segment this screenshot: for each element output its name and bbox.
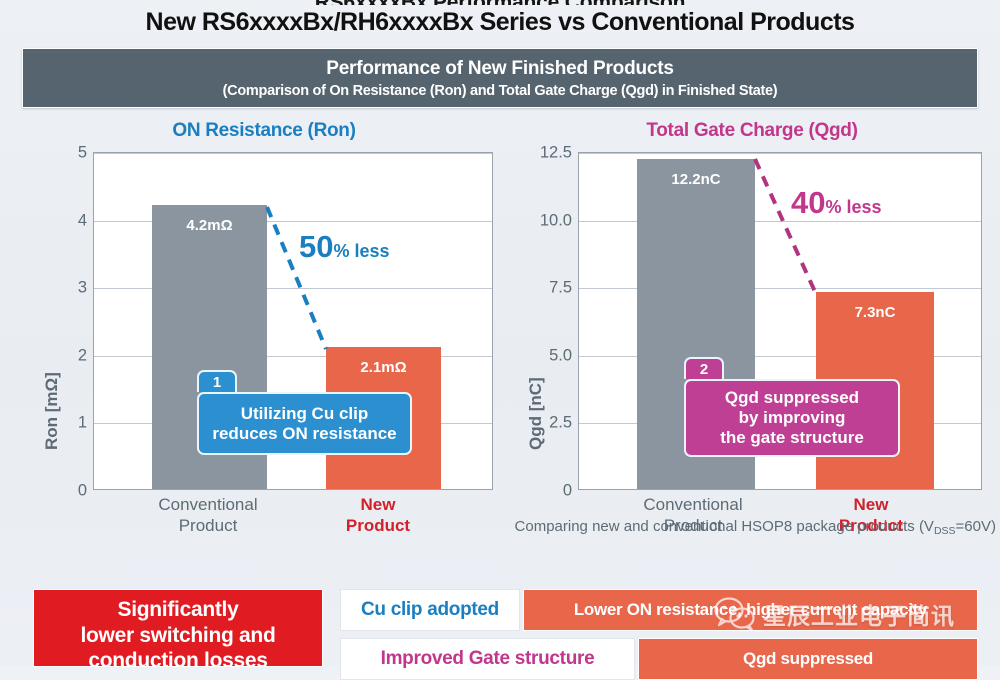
chart-footnote: Comparing new and conventional HSOP8 pac… (506, 518, 998, 535)
y-tick-qgd-12_5: 12.5 (540, 144, 579, 163)
y-tick-ron-3: 3 (78, 279, 94, 298)
slide-root: RS6xxxxBx Performance Comparison New RS6… (0, 0, 1000, 666)
annotation-ron-unit: % (333, 241, 349, 261)
cause-box-gate-structure: Improved Gate structure (340, 638, 635, 680)
annotation-ron-value: 50 (299, 229, 333, 264)
annotation-ron-suffix: less (355, 241, 390, 261)
x-label-ron-new: New Product (263, 495, 493, 536)
annotation-ron: 50% less (299, 229, 390, 265)
bottom-summary-section: Significantly lower switching and conduc… (0, 584, 1000, 666)
y-axis-label-qgd: Qgd [nC] (526, 377, 546, 450)
y-tick-qgd-2_5: 2.5 (549, 414, 579, 433)
callout-ron: Utilizing Cu clip reduces ON resistance (197, 392, 412, 455)
y-axis-label-ron: Ron [mΩ] (42, 372, 62, 450)
callout-badge-qgd: 2 (684, 357, 724, 379)
y-tick-qgd-10: 10.0 (540, 211, 579, 230)
banner-line-1: Performance of New Finished Products (326, 58, 674, 80)
header-banner: Performance of New Finished Products (Co… (22, 48, 978, 108)
slide-title: New RS6xxxxBx/RH6xxxxBx Series vs Conven… (0, 8, 1000, 37)
chart-title-ron: ON Resistance (Ron) (18, 120, 510, 142)
chart-title-qgd: Total Gate Charge (Qgd) (506, 120, 998, 142)
banner-line-2: (Comparison of On Resistance (Ron) and T… (223, 83, 778, 99)
y-tick-ron-2: 2 (78, 346, 94, 365)
annotation-qgd-suffix: less (847, 197, 882, 217)
effect-box-qgd-suppressed: Qgd suppressed (638, 638, 978, 680)
callout-qgd: Qgd suppressed by improving the gate str… (684, 379, 900, 457)
callout-badge-ron: 1 (197, 370, 237, 392)
effect-box-lower-on-resistance: Lower ON resistance, higher current capa… (523, 589, 978, 631)
cause-box-cu-clip: Cu clip adopted (340, 589, 520, 631)
annotation-qgd-unit: % (825, 197, 841, 217)
y-tick-ron-0: 0 (78, 482, 94, 501)
annotation-qgd: 40% less (791, 185, 882, 221)
footnote-text-before: Comparing new and conventional HSOP8 pac… (515, 518, 934, 535)
summary-red-box: Significantly lower switching and conduc… (33, 589, 323, 667)
chart-panel-ron: ON Resistance (Ron) Ron [mΩ] 5 4 3 2 1 0… (18, 120, 510, 550)
y-tick-qgd-7_5: 7.5 (549, 279, 579, 298)
plot-area-qgd: 12.5 10.0 7.5 5.0 2.5 0 12.2nC 7.3nC 40%… (578, 152, 982, 490)
chart-panel-qgd: Total Gate Charge (Qgd) Qgd [nC] 12.5 10… (506, 120, 998, 550)
y-tick-ron-5: 5 (78, 144, 94, 163)
footnote-subscript: DSS (934, 525, 956, 537)
footnote-text-after: =60V) (956, 518, 996, 535)
annotation-qgd-value: 40 (791, 185, 825, 220)
y-tick-ron-1: 1 (78, 414, 94, 433)
y-tick-qgd-5: 5.0 (549, 346, 579, 365)
y-tick-ron-4: 4 (78, 211, 94, 230)
plot-area-ron: 5 4 3 2 1 0 4.2mΩ 2.1mΩ 50% less (93, 152, 493, 490)
slide-title-clipped: RS6xxxxBx Performance Comparison (0, 0, 1000, 5)
